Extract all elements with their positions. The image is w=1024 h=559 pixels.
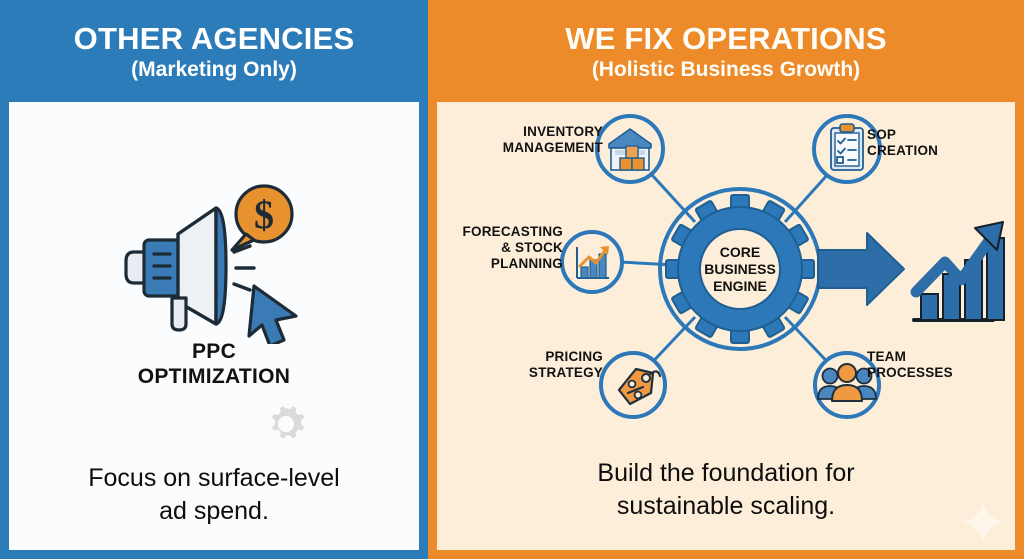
hub-line3: ENGINE — [713, 278, 767, 294]
gear-hub-icon: CORE BUSINESS ENGINE — [660, 189, 820, 349]
left-caption-line1: Focus on surface-level — [9, 462, 419, 495]
right-panel-we-fix-operations: WE FIX OPERATIONS (Holistic Business Gro… — [428, 0, 1024, 559]
right-panel-header: WE FIX OPERATIONS (Holistic Business Gro… — [428, 0, 1024, 102]
left-panel-title: OTHER AGENCIES — [74, 23, 355, 56]
node-inventory-management — [597, 116, 663, 182]
right-caption-line1: Build the foundation for — [437, 457, 1015, 490]
megaphone-dollar-cursor-icon: $ — [104, 174, 324, 344]
label-team-processes: TEAM PROCESSES — [867, 349, 1007, 381]
left-panel-other-agencies: OTHER AGENCIES (Marketing Only) — [0, 0, 428, 559]
right-panel-caption: Build the foundation for sustainable sca… — [437, 457, 1015, 523]
hub-line1: CORE — [720, 244, 760, 260]
clipboard-checklist-icon — [831, 124, 863, 170]
sparkle-icon — [961, 500, 1005, 544]
growth-bar-chart-arrow-icon — [914, 222, 1004, 320]
ppc-label-line2: OPTIMIZATION — [9, 365, 419, 390]
left-caption-line2: ad spend. — [9, 495, 419, 528]
hub-line2: BUSINESS — [704, 261, 776, 277]
right-caption-line2: sustainable scaling. — [437, 490, 1015, 523]
node-pricing-strategy — [601, 353, 665, 417]
ppc-label-line1: PPC — [9, 340, 419, 365]
right-arrow-icon — [818, 233, 904, 305]
ppc-optimization-label: PPC OPTIMIZATION — [9, 340, 419, 390]
left-panel-caption: Focus on surface-level ad spend. — [9, 462, 419, 528]
node-forecasting-stock-planning — [562, 232, 622, 292]
comparison-infographic: OTHER AGENCIES (Marketing Only) — [0, 0, 1024, 559]
left-panel-body: $ PPC OPTIMIZATION Focus on surface-leve… — [9, 102, 419, 550]
svg-text:$: $ — [254, 192, 274, 237]
right-panel-title: WE FIX OPERATIONS — [565, 23, 886, 56]
label-pricing-strategy: PRICING STRATEGY — [485, 349, 603, 381]
left-panel-header: OTHER AGENCIES (Marketing Only) — [0, 0, 428, 102]
gear-icon — [264, 402, 308, 446]
right-panel-subtitle: (Holistic Business Growth) — [592, 57, 860, 83]
label-forecasting-stock-planning: FORECASTING & STOCK PLANNING — [445, 224, 563, 273]
label-sop-creation: SOP CREATION — [867, 127, 997, 159]
label-inventory-management: INVENTORY MANAGEMENT — [475, 124, 603, 156]
left-panel-subtitle: (Marketing Only) — [131, 57, 297, 83]
right-panel-body: CORE BUSINESS ENGINE — [437, 102, 1015, 550]
